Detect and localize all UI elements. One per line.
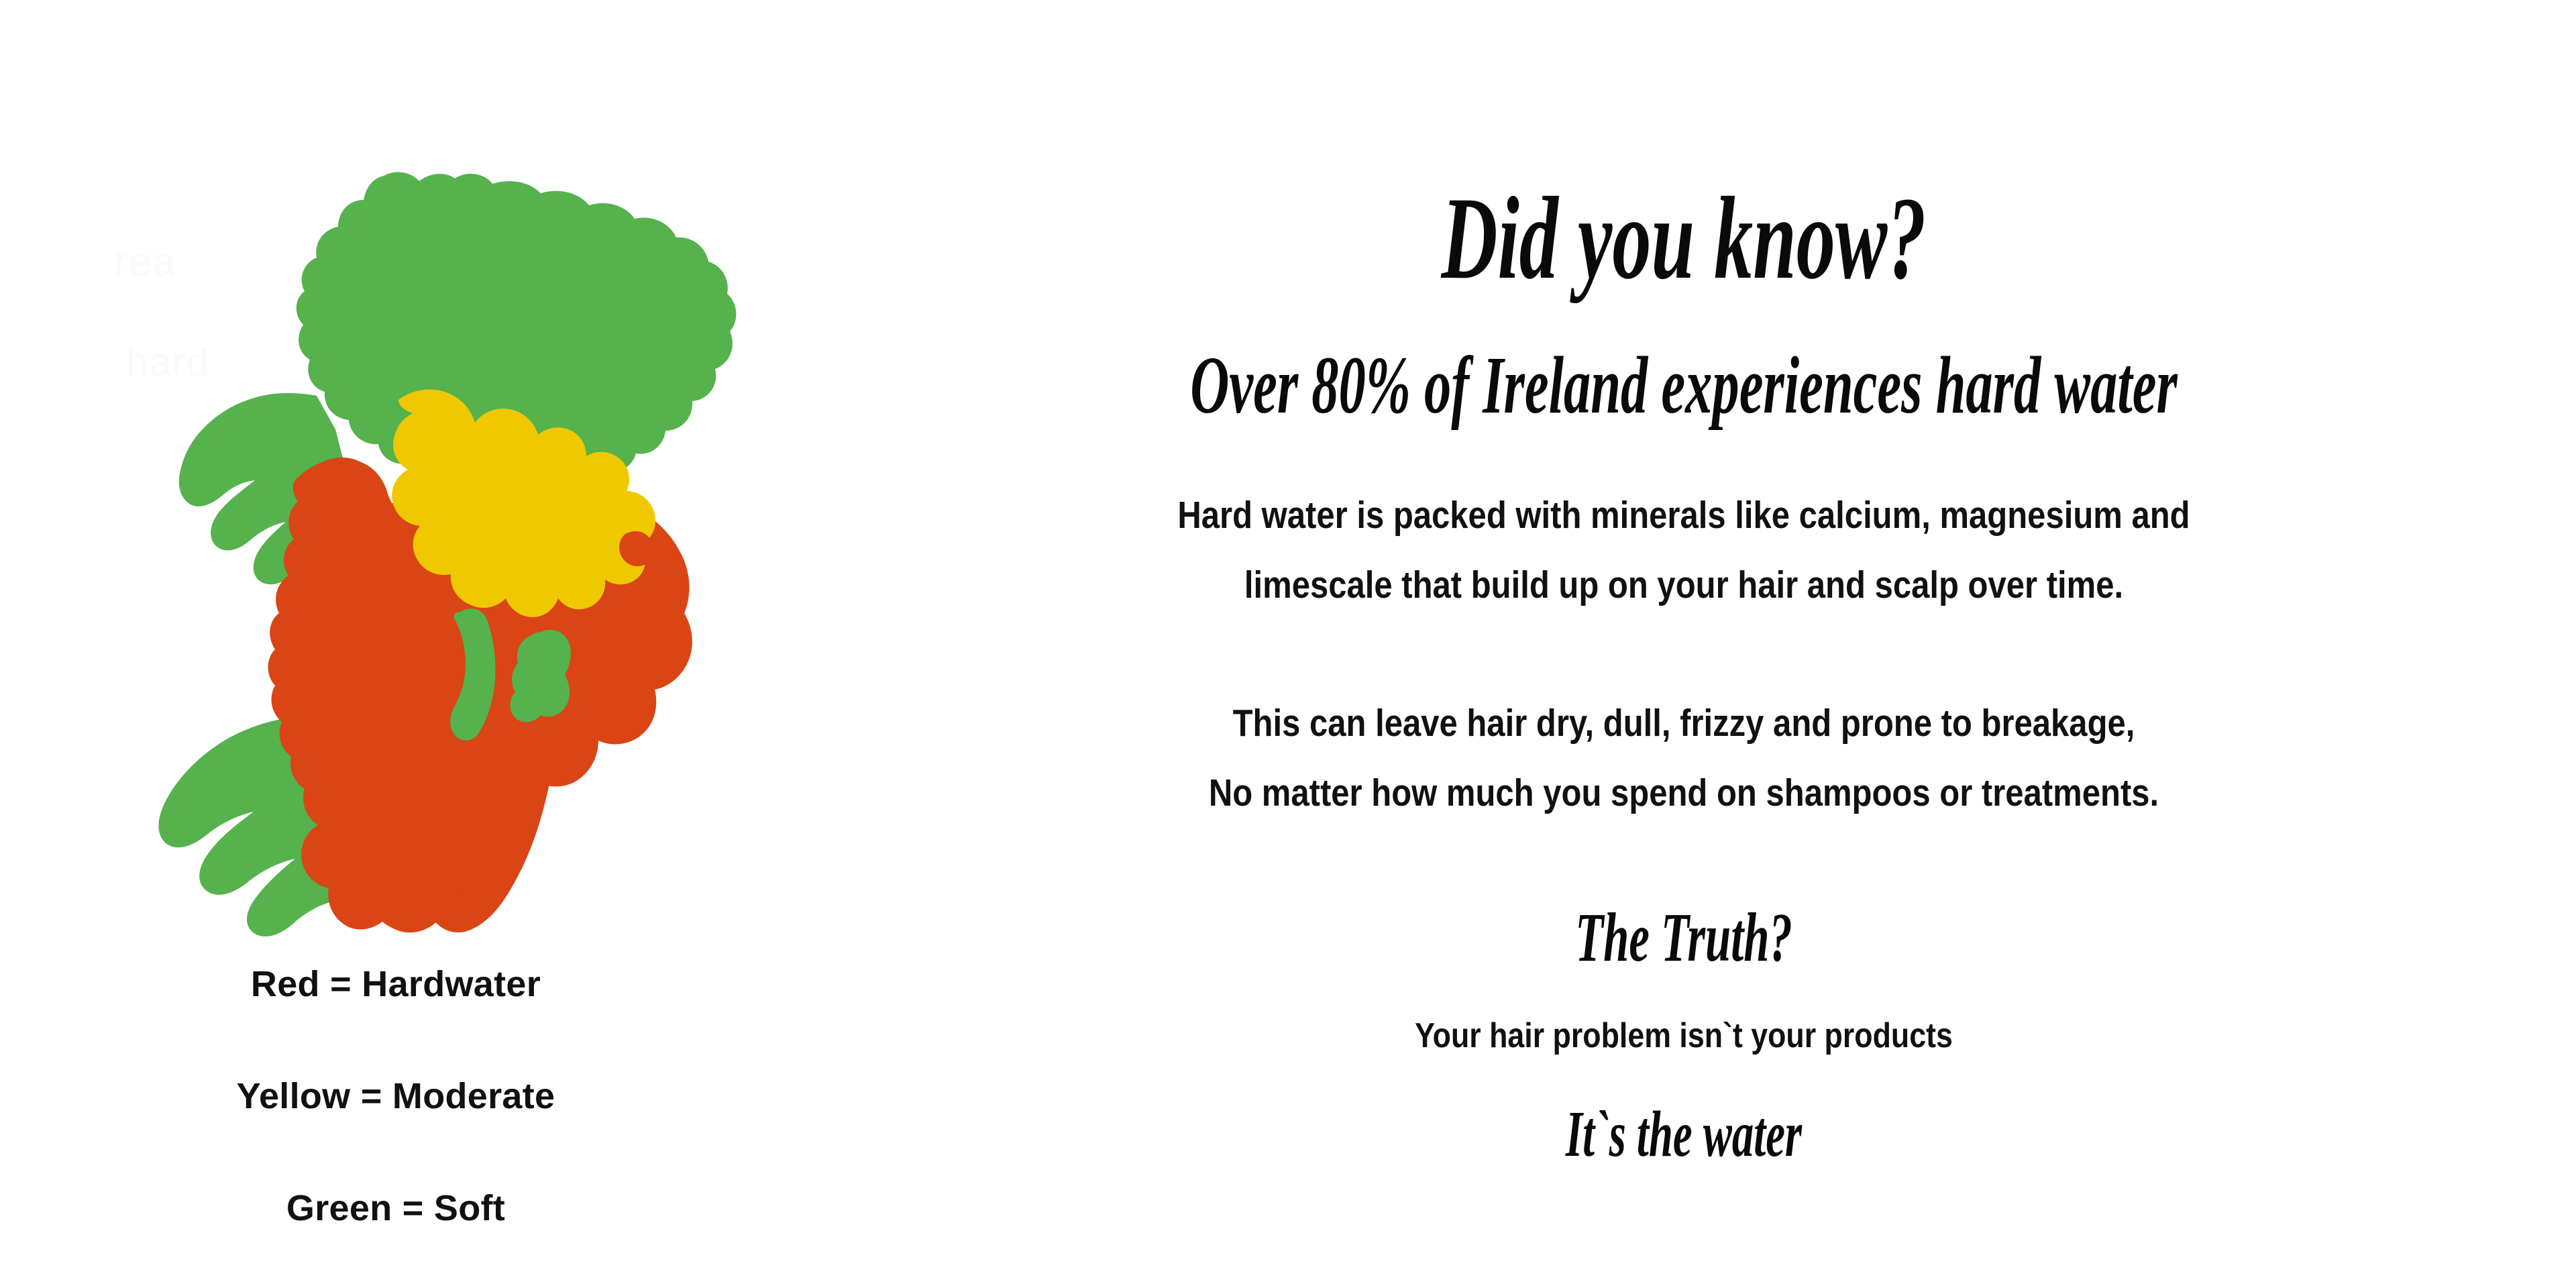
paragraph-minerals-line-1: Hard water is packed with minerals like …: [916, 496, 2451, 535]
ireland-map-svg: [80, 161, 792, 966]
legend-item-yellow: Yellow = Moderate: [0, 1078, 792, 1114]
paragraph-effects: This can leave hair dry, dull, frizzy an…: [792, 704, 2576, 812]
subheadline: Over 80% of Ireland experiences hard wat…: [1095, 345, 2273, 427]
copy-panel: Did you know? Over 80% of Ireland experi…: [792, 0, 2576, 1288]
poster-root: rea hard: [0, 0, 2576, 1288]
paragraph-minerals-line-2: limescale that build up on your hair and…: [916, 566, 2451, 604]
map-legend: Red = Hardwater Yellow = Moderate Green …: [0, 966, 792, 1226]
legend-item-green: Green = Soft: [0, 1190, 792, 1226]
truth-heading: The Truth?: [1095, 903, 2273, 973]
truth-statement: Your hair problem isn`t your products: [916, 1018, 2451, 1053]
legend-item-red: Red = Hardwater: [0, 966, 792, 1002]
map-panel: rea hard: [0, 0, 792, 1288]
paragraph-minerals: Hard water is packed with minerals like …: [792, 496, 2576, 604]
paragraph-effects-line-1: This can leave hair dry, dull, frizzy an…: [916, 704, 2451, 743]
ireland-hardness-map: [80, 161, 792, 966]
headline: Did you know?: [1095, 180, 2273, 298]
paragraph-effects-line-2: No matter how much you spend on shampoos…: [916, 774, 2451, 812]
water-statement: It`s the water: [1095, 1102, 2273, 1167]
